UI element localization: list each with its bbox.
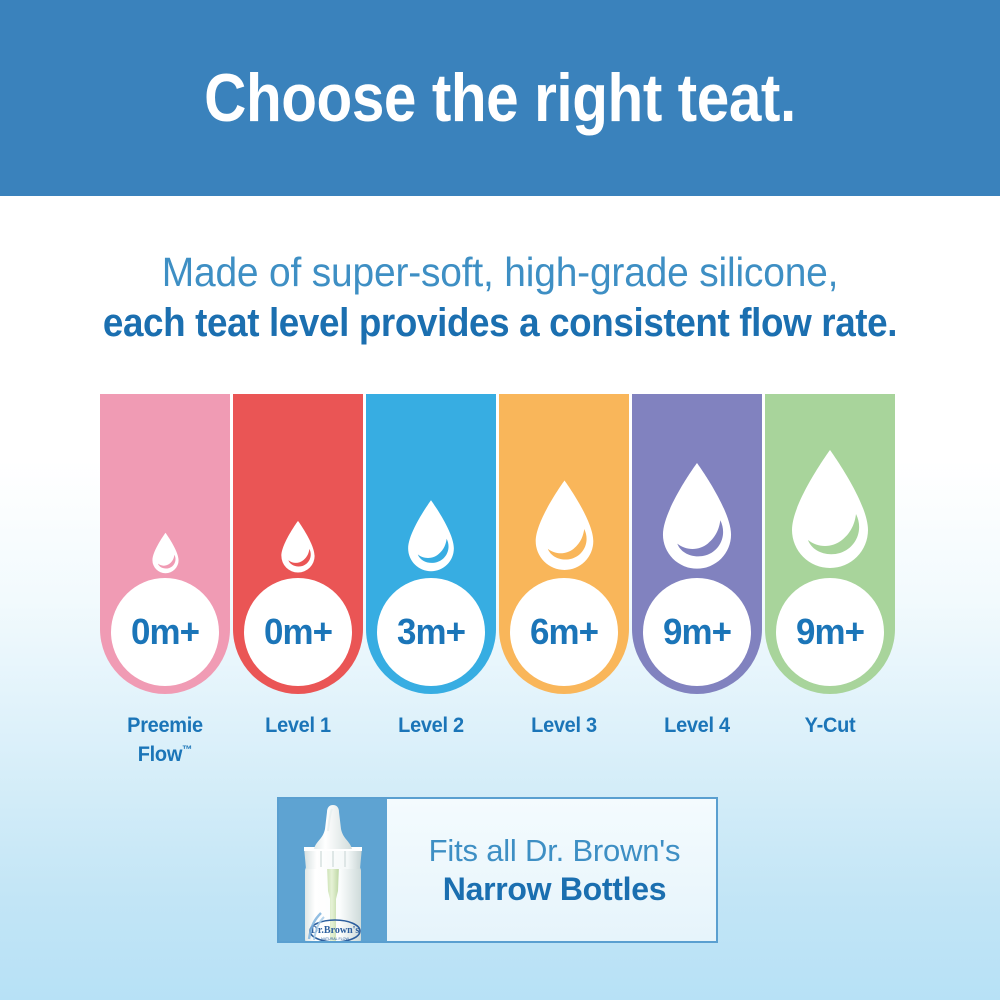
fits-all-callout: Dr.Brown's NATURAL FLOW Fits all Dr. Bro… <box>277 797 718 943</box>
age-badge-label: 0m+ <box>131 611 199 653</box>
droplet-wrapper <box>100 436 230 576</box>
teat-label-line-2-text: Flow <box>138 743 182 766</box>
age-badge: 0m+ <box>244 578 352 686</box>
droplet-icon <box>528 479 601 576</box>
teat-label: Level 4 <box>635 714 759 767</box>
droplet-wrapper <box>233 436 363 576</box>
teat-label: Y-Cut <box>768 714 892 767</box>
subtitle-block: Made of super-soft, high-grade silicone,… <box>0 246 1000 348</box>
droplet-wrapper <box>632 436 762 576</box>
droplet-wrapper <box>366 436 496 576</box>
teat-label-line-1: Level 4 <box>635 714 759 738</box>
svg-text:NATURAL FLOW: NATURAL FLOW <box>321 937 349 941</box>
teat-label: Level 1 <box>236 714 360 767</box>
teat-column[interactable]: 6m+ <box>499 394 629 694</box>
teat-label-line-1: Level 2 <box>369 714 493 738</box>
age-badge-label: 6m+ <box>530 611 598 653</box>
teat-label-line-2: Flow™ <box>103 738 227 767</box>
age-badge: 6m+ <box>510 578 618 686</box>
droplet-icon <box>149 532 182 576</box>
droplet-wrapper <box>499 436 629 576</box>
page-title: Choose the right teat. <box>204 59 796 137</box>
teat-columns: 0m+0m+3m+6m+9m+9m+ <box>100 394 900 694</box>
teat-column[interactable]: 9m+ <box>632 394 762 694</box>
teat-column[interactable]: 9m+ <box>765 394 895 694</box>
narrow-bottle-icon: Dr.Brown's NATURAL FLOW <box>283 799 383 941</box>
age-badge: 9m+ <box>776 578 884 686</box>
teat-label-line-1: Level 3 <box>502 714 626 738</box>
infographic-page: Choose the right teat. Made of super-sof… <box>0 0 1000 1000</box>
fits-text-block: Fits all Dr. Brown's Narrow Bottles <box>387 799 716 941</box>
bottle-image-panel: Dr.Brown's NATURAL FLOW <box>279 799 387 941</box>
teat-column[interactable]: 0m+ <box>100 394 230 694</box>
age-badge-label: 0m+ <box>264 611 332 653</box>
teat-label: Level 3 <box>502 714 626 767</box>
age-badge-label: 9m+ <box>663 611 731 653</box>
teat-label-line-1: Level 1 <box>236 714 360 738</box>
teat-label: PreemieFlow™ <box>103 714 227 767</box>
droplet-icon <box>782 448 878 576</box>
trademark-symbol: ™ <box>182 744 192 756</box>
droplet-icon <box>277 520 319 576</box>
age-badge: 3m+ <box>377 578 485 686</box>
teat-column[interactable]: 3m+ <box>366 394 496 694</box>
age-badge: 9m+ <box>643 578 751 686</box>
teat-labels: PreemieFlow™Level 1Level 2Level 3Level 4… <box>100 714 900 767</box>
age-badge-label: 9m+ <box>796 611 864 653</box>
droplet-icon <box>402 499 460 576</box>
subtitle-line-2: each teat level provides a consistent fl… <box>40 298 960 348</box>
age-badge-label: 3m+ <box>397 611 465 653</box>
teat-label-line-1: Preemie <box>103 714 227 738</box>
droplet-wrapper <box>765 436 895 576</box>
fits-line-2: Narrow Bottles <box>443 870 666 908</box>
header-banner: Choose the right teat. <box>0 0 1000 196</box>
teat-label-line-1: Y-Cut <box>768 714 892 738</box>
droplet-icon <box>654 461 740 576</box>
teat-column[interactable]: 0m+ <box>233 394 363 694</box>
age-badge: 0m+ <box>111 578 219 686</box>
teat-label: Level 2 <box>369 714 493 767</box>
fits-line-1: Fits all Dr. Brown's <box>429 832 681 870</box>
subtitle-line-1: Made of super-soft, high-grade silicone, <box>25 246 975 298</box>
